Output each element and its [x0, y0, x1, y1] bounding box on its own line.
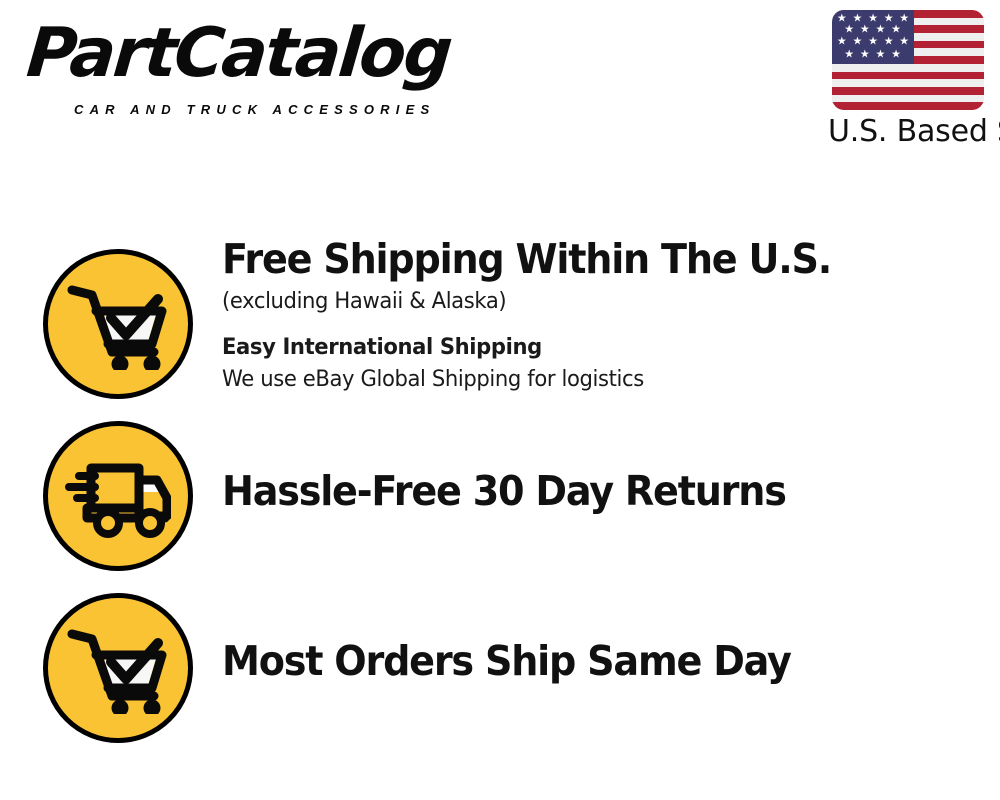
feature-subtext: We use eBay Global Shipping for logistic…	[222, 364, 950, 396]
list-item: Most Orders Ship Same Day	[0, 574, 1000, 746]
list-item: Hassle-Free 30 Day Returns	[0, 402, 1000, 574]
us-flag-icon: ★ ★ ★ ★ ★ ★ ★ ★ ★ ★ ★ ★ ★ ★ ★ ★ ★ ★	[832, 10, 984, 110]
list-item: Free Shipping Within The U.S. (excluding…	[0, 230, 1000, 402]
feature-list: Free Shipping Within The U.S. (excluding…	[0, 230, 1000, 746]
feature-heading: Free Shipping Within The U.S.	[222, 234, 927, 284]
delivery-truck-icon	[43, 421, 193, 571]
shopping-cart-check-icon	[43, 249, 193, 399]
brand-wordmark: PartCatalog	[24, 18, 500, 90]
promo-banner: PartCatalog CAR AND TRUCK ACCESSORIES ★ …	[0, 0, 1000, 800]
shopping-cart-check-icon	[43, 593, 193, 743]
brand-logo: PartCatalog CAR AND TRUCK ACCESSORIES	[24, 18, 494, 114]
brand-tagline: CAR AND TRUCK ACCESSORIES	[74, 102, 435, 117]
flag-canton: ★ ★ ★ ★ ★ ★ ★ ★ ★ ★ ★ ★ ★ ★ ★ ★ ★ ★	[832, 10, 914, 64]
us-based-seller-badge: ★ ★ ★ ★ ★ ★ ★ ★ ★ ★ ★ ★ ★ ★ ★ ★ ★ ★ U.S.…	[828, 10, 988, 150]
seller-label: U.S. Based Seller	[828, 114, 988, 150]
feature-note: (excluding Hawaii & Alaska)	[222, 286, 950, 318]
feature-heading: Hassle-Free 30 Day Returns	[222, 466, 927, 516]
feature-subheading: Easy International Shipping	[222, 332, 950, 364]
feature-heading: Most Orders Ship Same Day	[222, 636, 927, 686]
